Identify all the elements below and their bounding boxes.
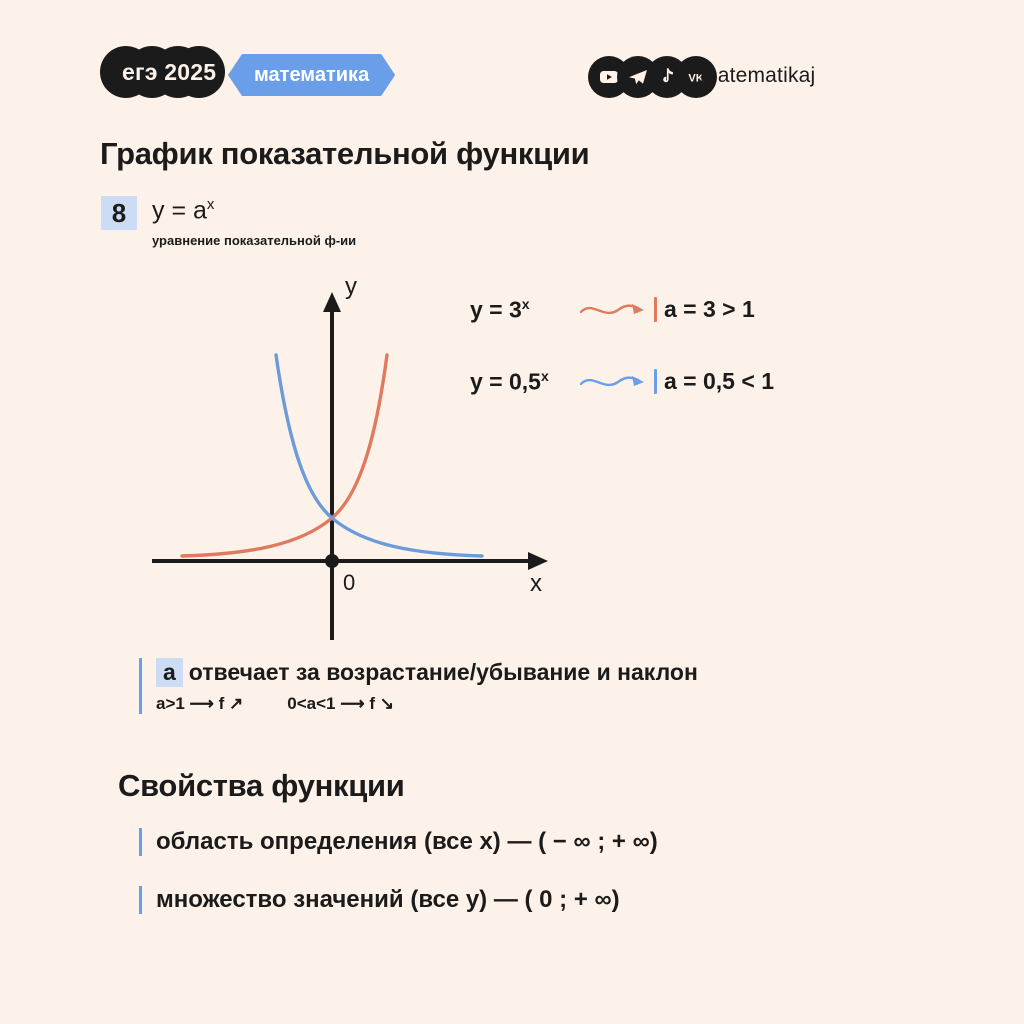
wavy-arrow-icon <box>578 369 650 395</box>
legend-condition: a = 3 > 1 <box>654 296 755 323</box>
legend-condition-text: a = 0,5 < 1 <box>664 368 774 395</box>
legend-condition: a = 0,5 < 1 <box>654 368 774 395</box>
origin-dot <box>325 554 339 568</box>
main-formula: y = ax <box>152 196 214 225</box>
legend-equation-base: y = 0,5 <box>470 369 541 395</box>
legend-row: y = 0,5x a = 0,5 < 1 <box>470 368 774 396</box>
properties-title: Свойства функции <box>118 768 405 804</box>
page-title: График показательной функции <box>100 136 589 172</box>
legend-equation: y = 3x <box>470 296 578 324</box>
exam-badge-label: егэ 2025 <box>122 59 216 86</box>
parameter-note: a отвечает за возрастание/убывание и нак… <box>139 658 698 714</box>
curve-increasing <box>182 355 387 556</box>
subject-badge: математика <box>228 54 395 96</box>
exam-badge: егэ 2025 <box>100 50 236 94</box>
parameter-note-text: отвечает за возрастание/убывание и накло… <box>189 659 698 686</box>
parameter-variable-highlight: a <box>156 658 183 687</box>
y-axis-arrowhead <box>323 292 341 312</box>
x-axis-label: x <box>530 570 542 598</box>
curve-decreasing <box>276 355 482 556</box>
parameter-rules: a>1 ⟶ f ↗ 0<a<1 ⟶ f ↘ <box>156 694 698 714</box>
main-formula-exponent: x <box>207 196 215 213</box>
rule-increasing: a>1 ⟶ f ↗ <box>156 694 243 714</box>
legend-equation-exponent: x <box>541 368 549 384</box>
function-graph: y x 0 <box>140 270 570 640</box>
x-axis-arrowhead <box>528 552 548 570</box>
legend-color-bar <box>654 297 657 322</box>
legend-condition-text: a = 3 > 1 <box>664 296 755 323</box>
formula-caption: уравнение показательной ф-ии <box>152 233 356 248</box>
main-formula-base: y = a <box>152 196 207 224</box>
legend-color-bar <box>654 369 657 394</box>
wavy-arrow-icon <box>578 297 650 323</box>
rule-decreasing: 0<a<1 ⟶ f ↘ <box>287 694 394 714</box>
property-item: множество значений (все y) — ( 0 ; + ∞) <box>139 886 620 914</box>
brand-name: matematikaj <box>700 64 815 88</box>
infographic-page: егэ 2025 математика <box>0 0 1024 1024</box>
parameter-note-headline: a отвечает за возрастание/убывание и нак… <box>156 658 698 687</box>
legend-equation: y = 0,5x <box>470 368 578 396</box>
header: егэ 2025 математика <box>0 0 1024 120</box>
legend-row: y = 3x a = 3 > 1 <box>470 296 755 324</box>
subject-badge-label: математика <box>254 64 369 87</box>
origin-label: 0 <box>343 570 355 596</box>
item-number-badge: 8 <box>101 196 137 230</box>
legend-equation-base: y = 3 <box>470 297 522 323</box>
y-axis-label: y <box>345 273 357 301</box>
property-item: область определения (все x) — ( − ∞ ; + … <box>139 828 658 856</box>
legend-equation-exponent: x <box>522 296 530 312</box>
